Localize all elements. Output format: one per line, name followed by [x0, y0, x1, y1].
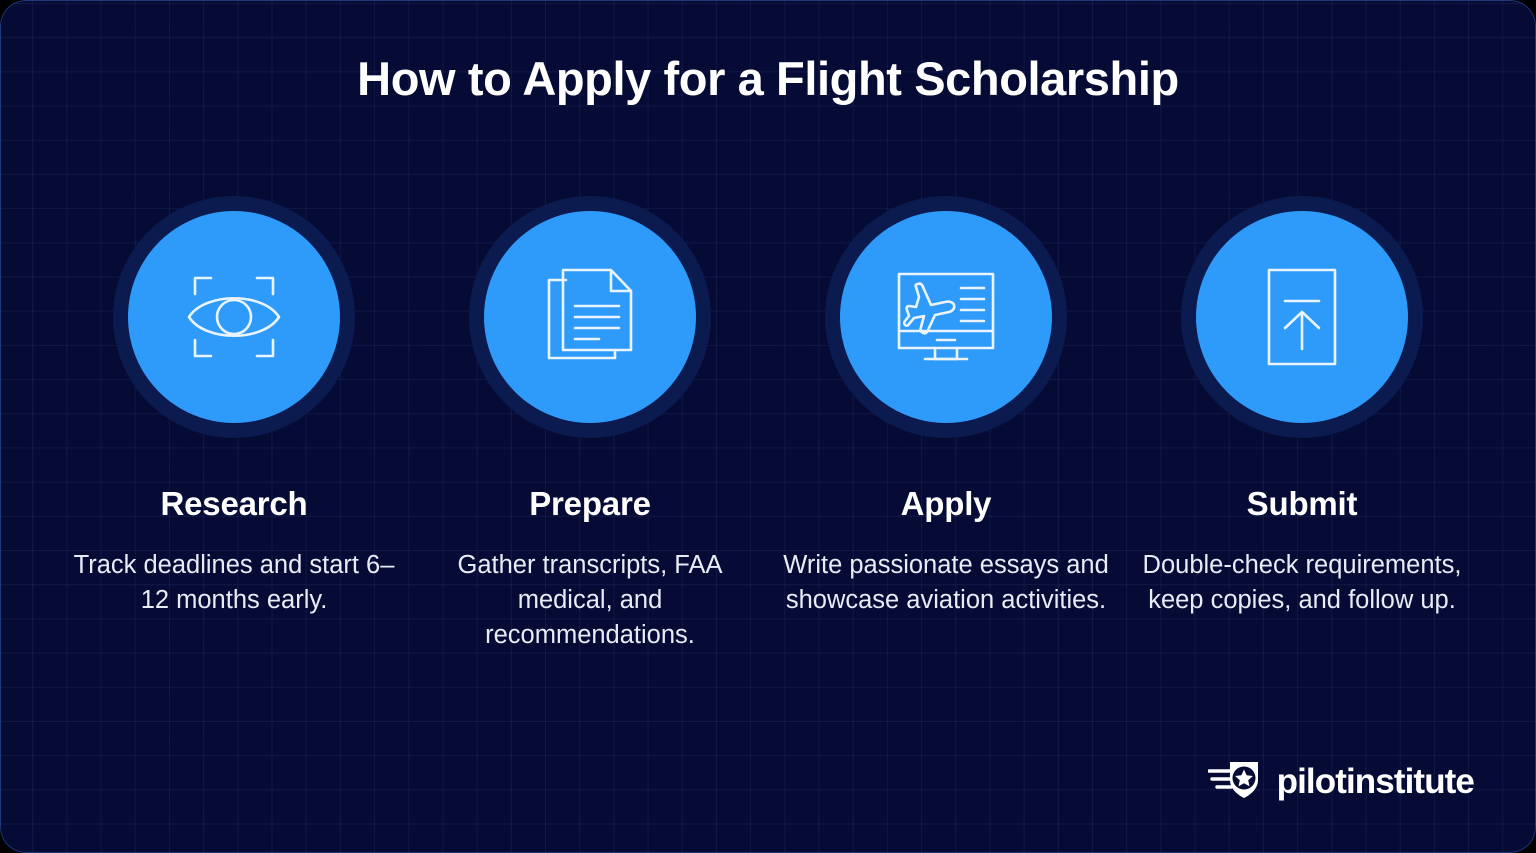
- eye-scan-icon: [175, 258, 293, 376]
- brand-logo-text: pilotinstitute: [1277, 764, 1474, 799]
- step-research: Research Track deadlines and start 6–12 …: [56, 196, 412, 618]
- page-title: How to Apply for a Flight Scholarship: [0, 52, 1536, 106]
- documents-icon: [531, 258, 649, 376]
- brand-logo: pilotinstitute: [1208, 758, 1474, 805]
- steps-row: Research Track deadlines and start 6–12 …: [56, 196, 1480, 652]
- upload-document-icon: [1243, 258, 1361, 376]
- step-description-submit: Double-check requirements, keep copies, …: [1137, 548, 1467, 617]
- icon-halo-apply: [825, 196, 1067, 438]
- icon-disc-submit: [1196, 211, 1408, 423]
- step-description-prepare: Gather transcripts, FAA medical, and rec…: [425, 548, 755, 652]
- step-title-research: Research: [161, 486, 308, 522]
- icon-halo-research: [113, 196, 355, 438]
- step-title-apply: Apply: [901, 486, 992, 522]
- step-description-apply: Write passionate essays and showcase avi…: [781, 548, 1111, 617]
- infographic-card: How to Apply for a Flight Scholarship: [0, 0, 1536, 853]
- step-prepare: Prepare Gather transcripts, FAA medical,…: [412, 196, 768, 652]
- step-apply: Apply Write passionate essays and showca…: [768, 196, 1124, 618]
- icon-disc-prepare: [484, 211, 696, 423]
- step-title-prepare: Prepare: [529, 486, 651, 522]
- step-submit: Submit Double-check requirements, keep c…: [1124, 196, 1480, 618]
- monitor-airplane-icon: [887, 258, 1005, 376]
- icon-halo-submit: [1181, 196, 1423, 438]
- step-description-research: Track deadlines and start 6–12 months ea…: [69, 548, 399, 617]
- icon-disc-research: [128, 211, 340, 423]
- winged-shield-star-icon: [1208, 758, 1266, 805]
- icon-halo-prepare: [469, 196, 711, 438]
- step-title-submit: Submit: [1247, 486, 1358, 522]
- icon-disc-apply: [840, 211, 1052, 423]
